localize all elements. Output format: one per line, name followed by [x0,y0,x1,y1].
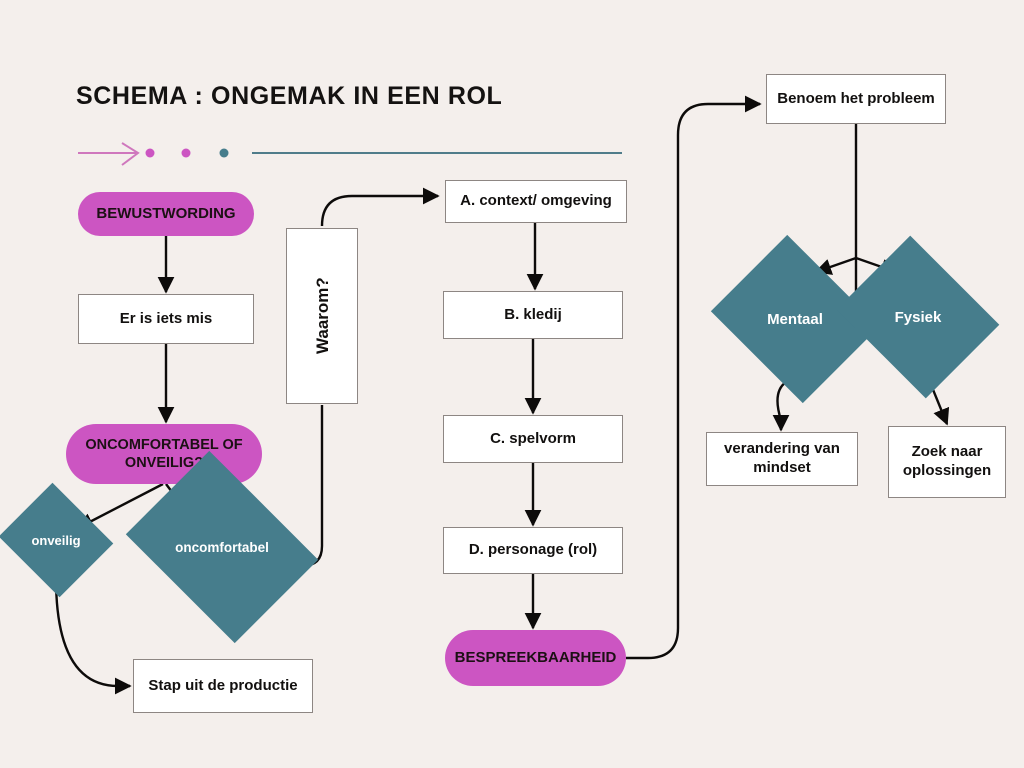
node-verandering-van-mindset[interactable]: verandering van mindset [706,432,858,486]
flowchart-canvas: SCHEMA : ONGEMAK IN EEN ROL [0,0,1024,768]
node-benoem-het-probleem-label: Benoem het probleem [777,90,935,109]
node-bewustwording[interactable]: BEWUSTWORDING [78,192,254,236]
node-zoek-naar-oplossingen-label: Zoek naar oplossingen [897,443,997,481]
node-fysiek-label: Fysiek [855,265,981,369]
node-stap-uit-de-productie-label: Stap uit de productie [148,677,297,696]
dot-magenta-1 [146,149,155,158]
decorative-divider [76,140,624,166]
node-kledij[interactable]: B. kledij [443,291,623,339]
node-bewustwording-label: BEWUSTWORDING [96,205,235,224]
node-benoem-het-probleem[interactable]: Benoem het probleem [766,74,946,124]
edge-onveilig-to-stapuit [56,578,130,686]
node-onveilig[interactable]: onveilig [13,502,99,578]
node-personage-label: D. personage (rol) [469,541,597,560]
node-oncomfortabel-label: oncomfortabel [145,488,299,606]
node-er-is-iets-mis[interactable]: Er is iets mis [78,294,254,344]
node-er-is-iets-mis-label: Er is iets mis [120,310,213,329]
node-oncomfortabel[interactable]: oncomfortabel [145,488,299,606]
node-waarom-label: Waarom? [311,278,332,355]
node-mentaal[interactable]: Mentaal [730,265,860,373]
arrow-right-icon [78,143,138,165]
node-verandering-van-mindset-label: verandering van mindset [715,440,849,478]
node-mentaal-label: Mentaal [730,265,860,373]
node-personage[interactable]: D. personage (rol) [443,527,623,574]
node-context-omgeving[interactable]: A. context/ omgeving [445,180,627,223]
node-fysiek[interactable]: Fysiek [855,265,981,369]
edge-bespreekbaarheid-to-benoem [626,104,760,658]
node-bespreekbaarheid-label: BESPREEKBAARHEID [455,649,617,668]
dot-teal [220,149,229,158]
node-waarom[interactable]: Waarom? [286,228,358,404]
node-spelvorm-label: C. spelvorm [490,430,576,449]
edge-waarom-to-context [322,196,438,226]
node-bespreekbaarheid[interactable]: BESPREEKBAARHEID [445,630,626,686]
node-context-omgeving-label: A. context/ omgeving [460,192,612,211]
node-kledij-label: B. kledij [504,306,562,325]
node-onveilig-label: onveilig [13,502,99,578]
page-title: SCHEMA : ONGEMAK IN EEN ROL [76,82,502,111]
node-zoek-naar-oplossingen[interactable]: Zoek naar oplossingen [888,426,1006,498]
node-spelvorm[interactable]: C. spelvorm [443,415,623,463]
dot-magenta-2 [182,149,191,158]
node-stap-uit-de-productie[interactable]: Stap uit de productie [133,659,313,713]
